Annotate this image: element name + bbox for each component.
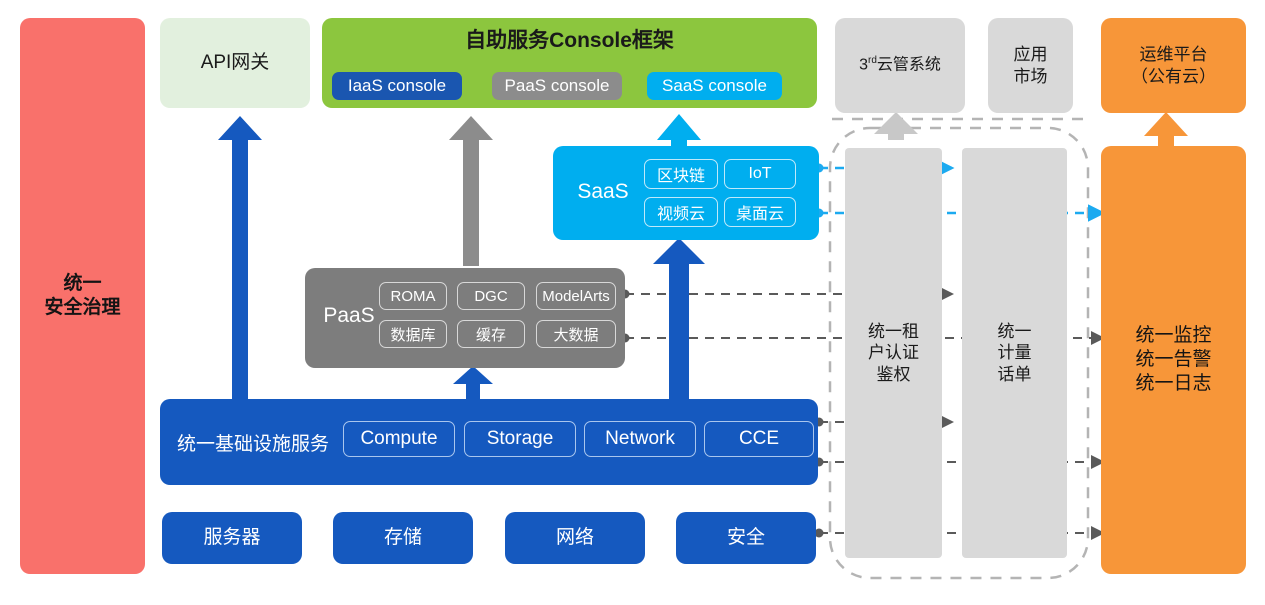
iaas-item-compute[interactable]: Compute — [343, 421, 455, 457]
iaas-item-storage-label: Storage — [487, 428, 554, 450]
api-gateway-box[interactable]: API网关 — [160, 18, 310, 108]
billing-line3: 话单 — [998, 364, 1032, 385]
ops-right-line1: 统一监控 — [1135, 324, 1211, 348]
iaas-console-label: IaaS console — [348, 76, 446, 96]
iaas-item-network[interactable]: Network — [584, 421, 696, 457]
auth-line1: 统一租 — [868, 321, 919, 342]
resource-security-label: 安全 — [727, 526, 765, 550]
paas-item-cache-label: 缓存 — [476, 324, 506, 345]
saas-layer-label: SaaS — [563, 180, 643, 204]
saas-item-video-cloud-label: 视频云 — [657, 200, 705, 224]
ops-platform-line2: （公有云） — [1131, 66, 1216, 87]
ops-platform-line1: 运维平台 — [1140, 44, 1208, 65]
saas-console-label: SaaS console — [662, 76, 767, 96]
saas-item-desktop-cloud[interactable]: 桌面云 — [724, 197, 796, 227]
ops-right-line3: 统一日志 — [1135, 372, 1211, 396]
paas-item-cache[interactable]: 缓存 — [457, 320, 525, 348]
iaas-item-cce-label: CCE — [739, 428, 779, 450]
api-gateway-label: API网关 — [201, 51, 270, 75]
iaas-item-storage[interactable]: Storage — [464, 421, 576, 457]
blue-up-arrow-to-api-gateway — [218, 116, 262, 400]
security-label-line2: 安全治理 — [44, 296, 120, 320]
iaas-item-compute-label: Compute — [360, 428, 437, 450]
paas-item-bigdata[interactable]: 大数据 — [536, 320, 616, 348]
paas-item-roma-label: ROMA — [391, 288, 436, 305]
ops-platform-box[interactable]: 运维平台 （公有云） — [1101, 18, 1246, 113]
paas-item-database[interactable]: 数据库 — [379, 320, 447, 348]
paas-item-bigdata-label: 大数据 — [553, 324, 598, 345]
iaas-item-network-label: Network — [605, 428, 675, 450]
paas-item-modelarts[interactable]: ModelArts — [536, 282, 616, 310]
billing-line1: 统一 — [998, 321, 1032, 342]
iaas-item-cce[interactable]: CCE — [704, 421, 814, 457]
app-market-line1: 应用 — [1014, 44, 1048, 65]
paas-console-chip[interactable]: PaaS console — [492, 72, 622, 100]
saas-item-desktop-cloud-label: 桌面云 — [736, 200, 784, 224]
ops-monitoring-box[interactable]: 统一监控 统一告警 统一日志 — [1101, 146, 1246, 574]
resource-network-label: 网络 — [556, 526, 594, 550]
orange-up-arrow-to-ops-platform — [1144, 112, 1188, 146]
paas-item-database-label: 数据库 — [390, 324, 435, 345]
paas-item-roma[interactable]: ROMA — [379, 282, 447, 310]
saas-item-iot[interactable]: IoT — [724, 159, 796, 189]
saas-item-blockchain-label: 区块链 — [657, 162, 705, 186]
saas-item-video-cloud[interactable]: 视频云 — [644, 197, 718, 227]
iaas-console-chip[interactable]: IaaS console — [332, 72, 462, 100]
ops-right-line2: 统一告警 — [1135, 348, 1211, 372]
saas-console-chip[interactable]: SaaS console — [647, 72, 782, 100]
paas-item-modelarts-label: ModelArts — [542, 288, 610, 305]
auth-line2: 户认证 — [868, 342, 919, 363]
paas-console-label: PaaS console — [505, 76, 610, 96]
paas-item-dgc-label: DGC — [474, 288, 507, 305]
gray-up-arrow-to-console — [449, 116, 493, 266]
unified-security-governance-box[interactable]: 统一 安全治理 — [20, 18, 145, 574]
gray-up-arrow-to-third-party — [874, 112, 918, 140]
auth-line3: 鉴权 — [877, 364, 911, 385]
resource-network-box[interactable]: 网络 — [505, 512, 645, 564]
app-market-box[interactable]: 应用 市场 — [988, 18, 1073, 113]
saas-item-blockchain[interactable]: 区块链 — [644, 159, 718, 189]
blue-up-arrow-to-saas — [653, 238, 705, 400]
unified-billing-column[interactable]: 统一 计量 话单 — [962, 148, 1067, 558]
billing-line2: 计量 — [998, 342, 1032, 363]
app-market-line2: 市场 — [1014, 66, 1048, 87]
console-framework-title: 自助服务Console框架 — [465, 28, 674, 54]
resource-storage-box[interactable]: 存储 — [333, 512, 473, 564]
resource-server-label: 服务器 — [203, 526, 260, 550]
blue-up-arrow-to-paas — [453, 366, 493, 400]
unified-auth-column[interactable]: 统一租 户认证 鉴权 — [845, 148, 942, 558]
resource-server-box[interactable]: 服务器 — [162, 512, 302, 564]
paas-layer-label: PaaS — [313, 304, 385, 328]
resource-security-box[interactable]: 安全 — [676, 512, 816, 564]
cyan-up-arrow-to-console — [657, 114, 701, 148]
saas-item-iot-label: IoT — [748, 165, 771, 183]
paas-item-dgc[interactable]: DGC — [457, 282, 525, 310]
third-party-label: 3rd云管系统 — [859, 55, 941, 75]
architecture-diagram: 统一 安全治理 API网关 自助服务Console框架 IaaS console… — [0, 0, 1265, 605]
resource-storage-label: 存储 — [384, 526, 422, 550]
third-party-cloud-box[interactable]: 3rd云管系统 — [835, 18, 965, 113]
iaas-layer-label: 统一基础设施服务 — [168, 429, 338, 456]
security-label-line1: 统一 — [63, 272, 101, 296]
